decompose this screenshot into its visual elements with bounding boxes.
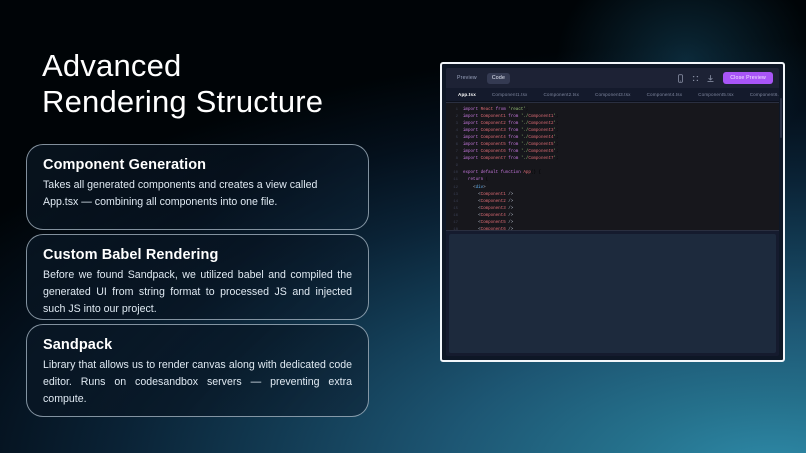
card-body: Before we found Sandpack, we utilized ba… <box>43 267 352 318</box>
line-number: 7 <box>446 149 458 156</box>
code-line: <div> <box>463 185 779 192</box>
line-number: 17 <box>446 220 458 227</box>
view-mode-switch[interactable]: Preview Code <box>452 73 510 84</box>
line-number: 10 <box>446 170 458 177</box>
code-line <box>463 163 779 170</box>
page-title: Advanced Rendering Structure <box>42 48 422 121</box>
device-mobile-icon[interactable] <box>676 74 685 83</box>
editor-panel-inner: Preview Code <box>446 68 779 356</box>
slide-root: Advanced Rendering Structure Component G… <box>0 0 806 453</box>
file-tab[interactable]: Component3.tsx <box>587 88 639 101</box>
line-number: 18 <box>446 227 458 231</box>
file-tab[interactable]: Component1.tsx <box>484 88 536 101</box>
line-number: 4 <box>446 128 458 135</box>
code-line: import Component1 from './Component1'; <box>463 114 779 121</box>
card-custom-babel-rendering: Custom Babel Rendering Before we found S… <box>26 234 369 320</box>
title-line-1: Advanced <box>42 48 422 84</box>
editor-panel: Preview Code <box>440 62 785 362</box>
line-number: 9 <box>446 163 458 170</box>
line-number: 13 <box>446 192 458 199</box>
expand-grid-icon[interactable] <box>691 74 700 83</box>
card-body: Library that allows us to render canvas … <box>43 357 352 408</box>
line-number: 5 <box>446 135 458 142</box>
code-line: import React from 'react'; <box>463 107 779 114</box>
line-number: 11 <box>446 177 458 184</box>
code-line: import Component7 from './Component7'; <box>463 156 779 163</box>
file-tab[interactable]: Component5.tsx <box>690 88 742 101</box>
line-number: 16 <box>446 213 458 220</box>
line-number: 8 <box>446 156 458 163</box>
download-icon[interactable] <box>706 74 715 83</box>
preview-tab-button[interactable]: Preview <box>452 73 482 84</box>
file-tab[interactable]: Component4.tsx <box>639 88 691 101</box>
card-component-generation: Component Generation Takes all generated… <box>26 144 369 230</box>
title-line-2: Rendering Structure <box>42 84 422 120</box>
line-number: 1 <box>446 107 458 114</box>
code-line: import Component6 from './Component6'; <box>463 149 779 156</box>
line-number: 3 <box>446 121 458 128</box>
line-number: 6 <box>446 142 458 149</box>
code-line: <Component4 /> <box>463 213 779 220</box>
code-line: import Component3 from './Component3'; <box>463 128 779 135</box>
code-line: <Component5 /> <box>463 220 779 227</box>
line-number: 14 <box>446 199 458 206</box>
card-sandpack: Sandpack Library that allows us to rende… <box>26 324 369 417</box>
file-tab-bar[interactable]: App.tsxComponent1.tsxComponent2.tsxCompo… <box>446 88 779 102</box>
file-tab[interactable]: App.tsx <box>450 88 484 102</box>
code-editor[interactable]: 12345678910111213141516171819202122 impo… <box>446 102 779 231</box>
card-heading: Sandpack <box>43 337 352 353</box>
code-line: export default function App() { <box>463 170 779 177</box>
line-number: 2 <box>446 114 458 121</box>
code-line: <Component6 /> <box>463 227 779 231</box>
preview-render-area[interactable] <box>449 234 776 353</box>
code-tab-button[interactable]: Code <box>487 73 510 84</box>
line-number-gutter: 12345678910111213141516171819202122 <box>446 103 460 230</box>
close-preview-button[interactable]: Close Preview <box>723 72 773 84</box>
code-line: import Component4 from './Component4'; <box>463 135 779 142</box>
editor-toolbar: Preview Code <box>446 68 779 88</box>
code-line: <Component1 /> <box>463 192 779 199</box>
code-line: <Component3 /> <box>463 206 779 213</box>
line-number: 12 <box>446 185 458 192</box>
card-body: Takes all generated components and creat… <box>43 177 352 211</box>
code-line: return ( <box>463 177 779 184</box>
line-number: 15 <box>446 206 458 213</box>
code-line: <Component2 /> <box>463 199 779 206</box>
card-heading: Component Generation <box>43 157 352 173</box>
code-content[interactable]: import React from 'react';import Compone… <box>460 103 779 230</box>
code-line: import Component2 from './Component2'; <box>463 121 779 128</box>
code-line: import Component5 from './Component5'; <box>463 142 779 149</box>
file-tab[interactable]: Component2.tsx <box>535 88 587 101</box>
card-heading: Custom Babel Rendering <box>43 247 352 263</box>
file-tab[interactable]: Component6.tsx <box>742 88 779 101</box>
